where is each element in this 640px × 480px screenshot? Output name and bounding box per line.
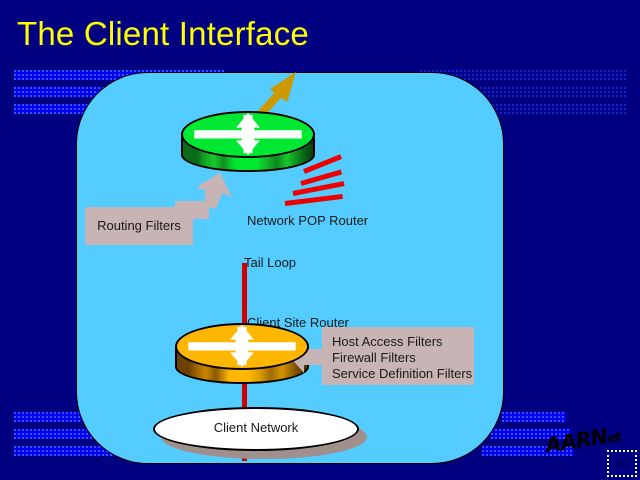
client-site-router-icon[interactable] [175,323,309,401]
slide-canvas: The Client Interface [0,0,640,480]
stripe [502,412,566,422]
client-filters-line-2: Firewall Filters [332,350,474,366]
router-body-top [181,111,315,158]
client-filters-line-1: Host Access Filters [332,334,474,350]
page-number: XX [609,459,635,468]
diagram-panel: Client Network Routing Filters Host Acce… [76,72,504,464]
pop-router-label: Network POP Router [247,213,368,228]
client-filters-callout[interactable]: Host Access Filters Firewall Filters Ser… [322,327,474,385]
client-network-ellipse: Client Network [153,407,359,451]
routing-filters-callout[interactable]: Routing Filters [85,207,193,245]
aarnet-logo-suffix: et [606,430,621,447]
page-title: The Client Interface [17,14,309,54]
router-arrows-icon [177,325,307,368]
page-number-box: XX [607,450,637,477]
client-network-label: Client Network [155,420,357,435]
router-arrows-icon [183,113,313,156]
tail-loop-label: Tail Loop [244,255,296,270]
client-filters-line-3: Service Definition Filters [332,366,474,382]
routing-filters-label: Routing Filters [85,218,193,234]
router-body-top [175,323,309,370]
